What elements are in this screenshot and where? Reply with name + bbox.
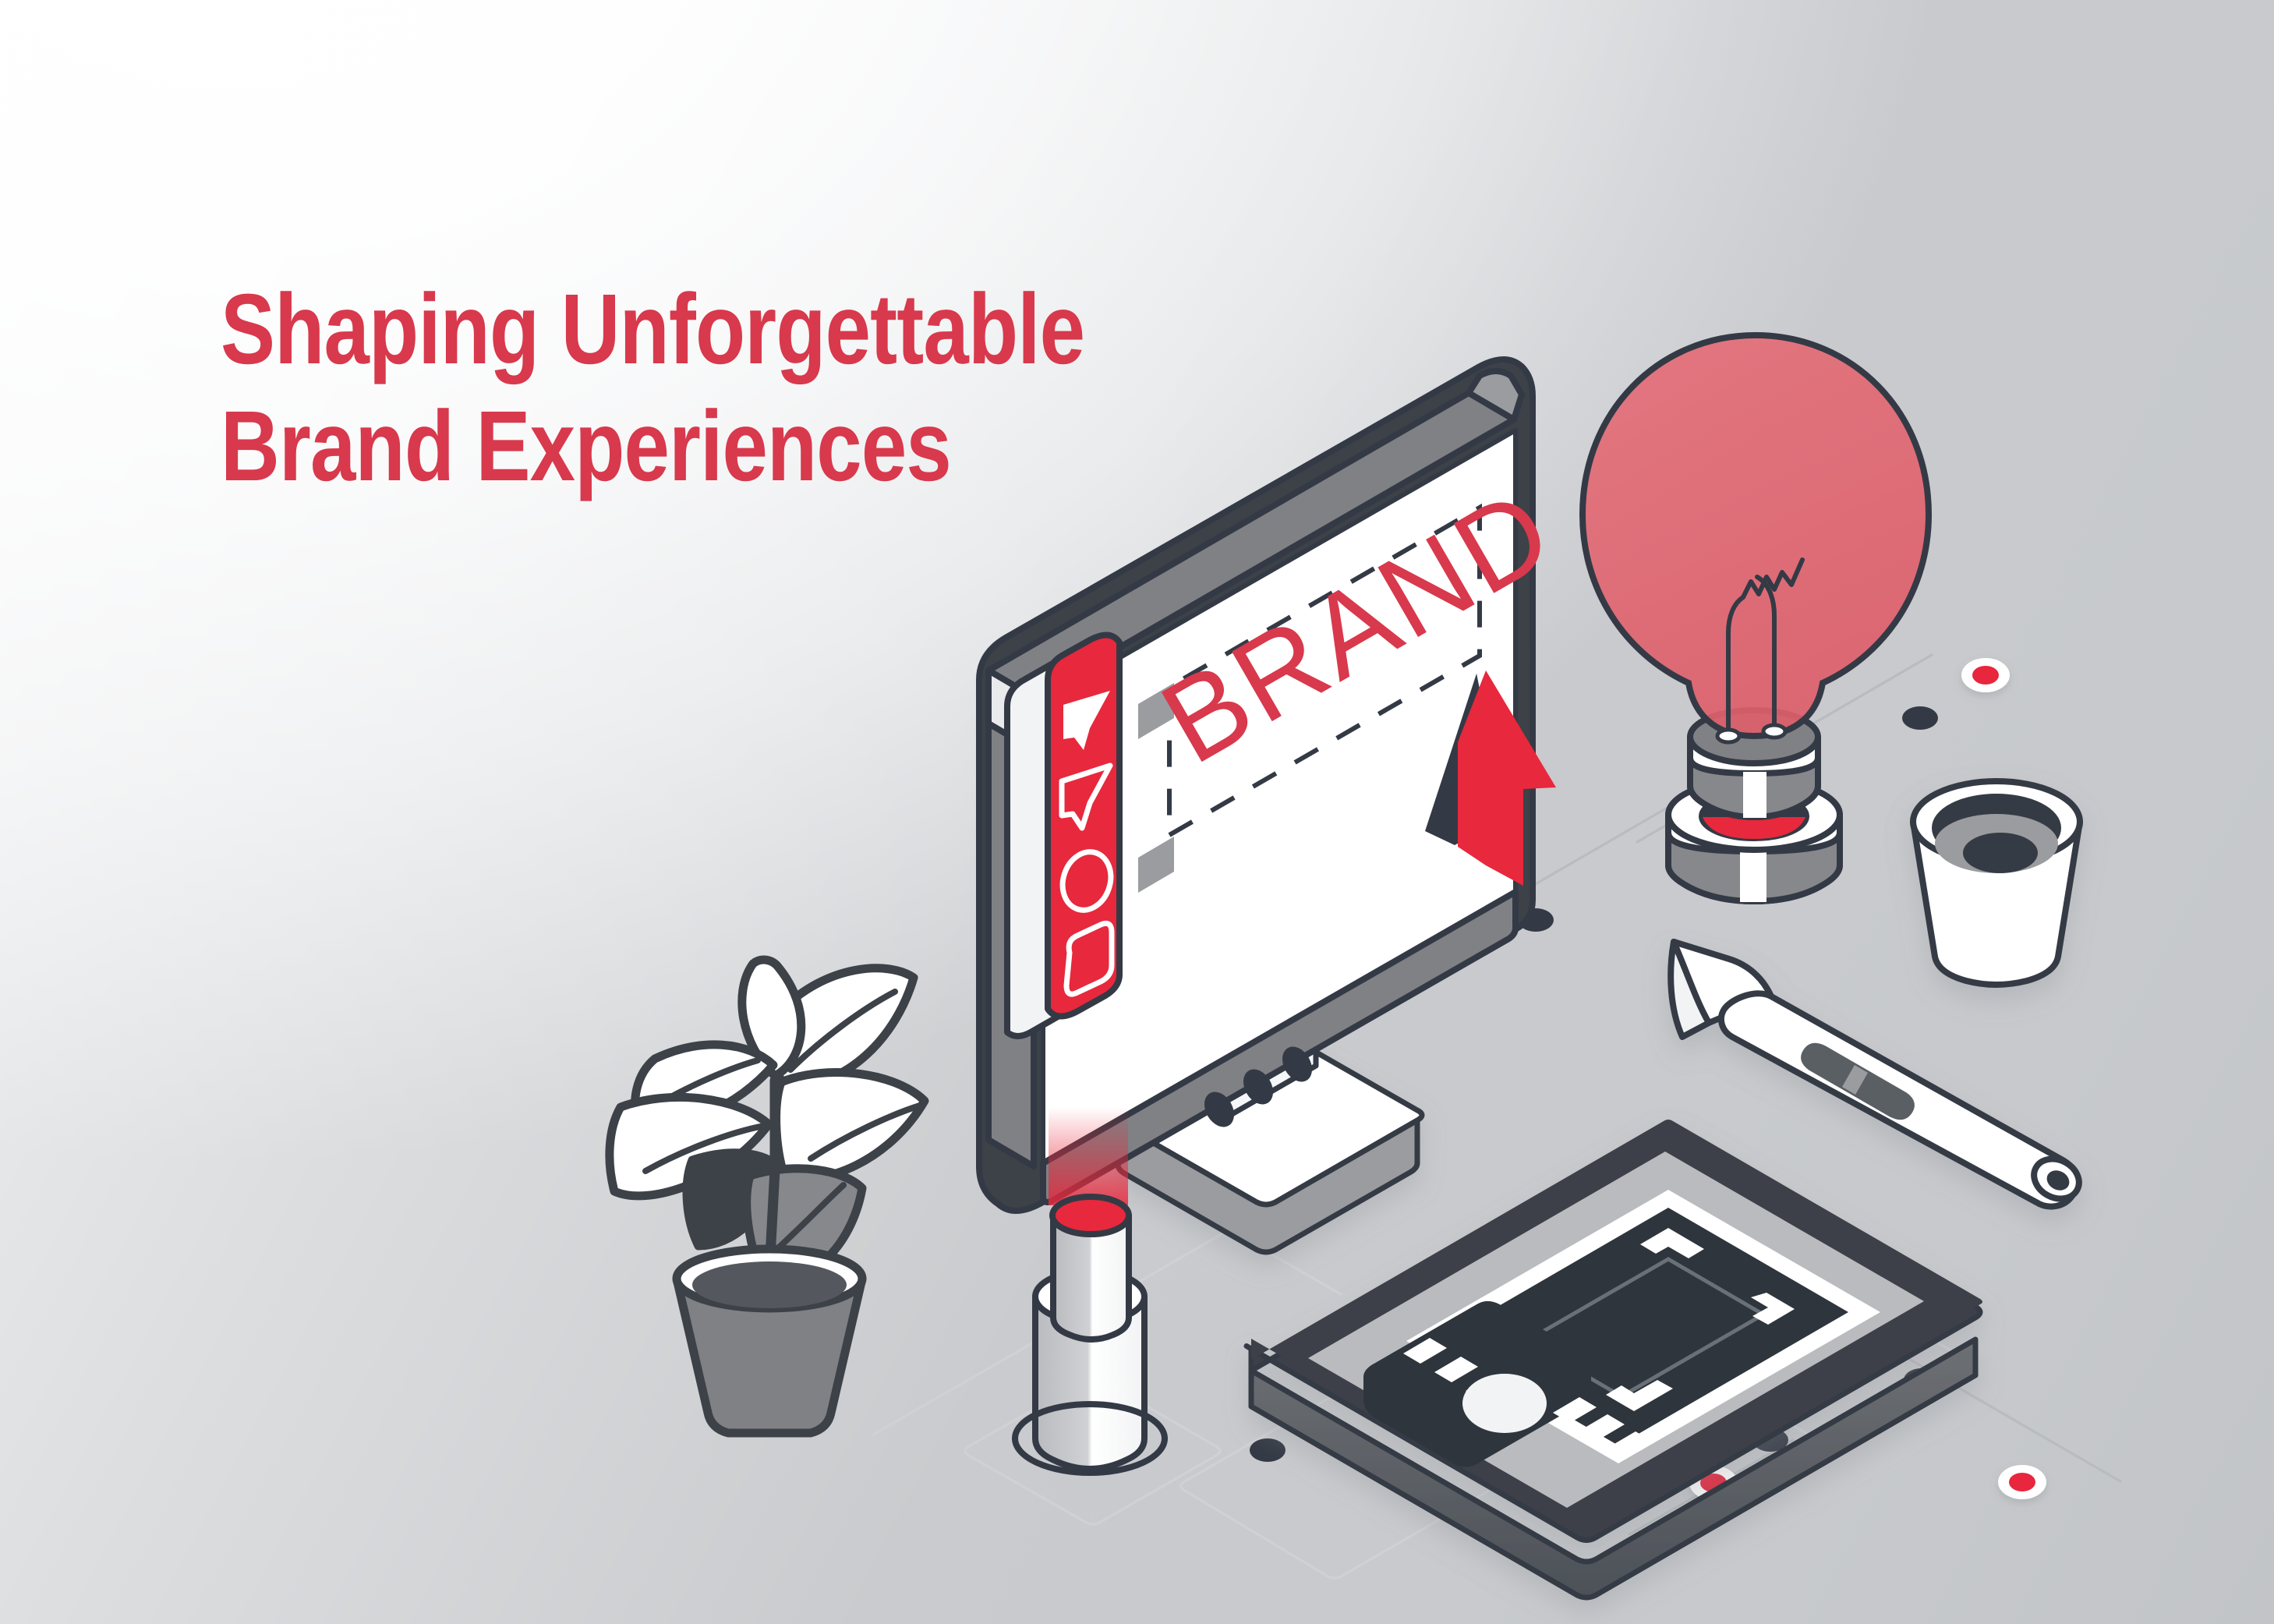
connector-node-dark [1902, 706, 1938, 730]
light-bulb [1583, 335, 1929, 902]
screen-toolbar-panel[interactable] [1007, 635, 1119, 1036]
potted-plant [610, 960, 925, 1433]
pen-cup-inner-hole [1963, 833, 2038, 873]
pen-cup [1913, 781, 2080, 985]
bulb-inner-notch [1743, 772, 1767, 818]
plant-leaf [776, 1073, 925, 1179]
marker-core-tip [1052, 1197, 1129, 1234]
connector-node-red [1961, 658, 2010, 692]
connector-node-red [1998, 1465, 2046, 1499]
marker-glow [1049, 1107, 1128, 1205]
connector-node-dark [1250, 1438, 1286, 1462]
bulb-base-notch [1740, 850, 1767, 902]
plant-soil [692, 1261, 847, 1308]
tablet-dial [1462, 1374, 1547, 1433]
plant-stem [770, 1081, 775, 1257]
bulb-glass [1583, 335, 1929, 736]
headline-line-1: Shaping Unforgettable [221, 274, 1084, 385]
isometric-scene: BRAND [0, 0, 2274, 1624]
illustration-canvas: Shaping UnforgettableBrand Experiences [0, 0, 2274, 1624]
page-title: Shaping UnforgettableBrand Experiences [221, 271, 1084, 505]
headline-line-2: Brand Experiences [221, 388, 1084, 505]
